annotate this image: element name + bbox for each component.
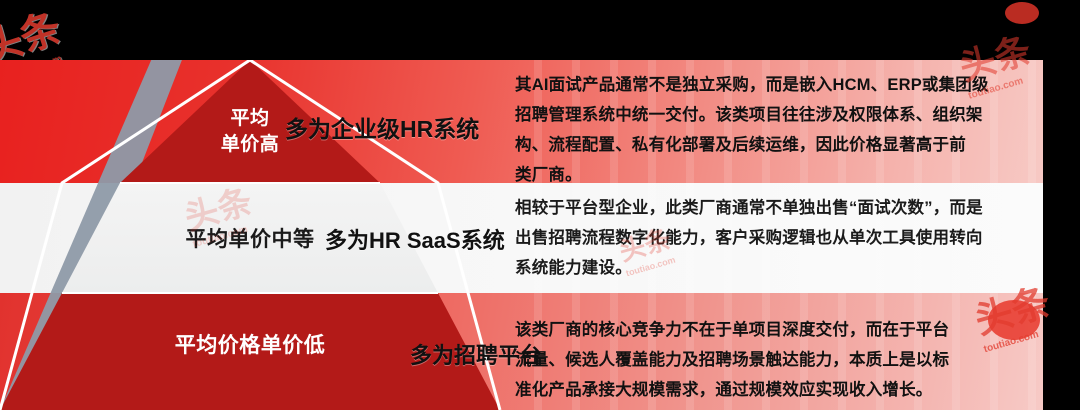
slide-canvas: 头条 toutiao.com 平均 单价高 平均单价中等 平均价格单价低 多为企… bbox=[0, 0, 1080, 410]
tier-2-description: 相较于平台型企业，此类厂商通常不单独出售“面试次数”，而是 出售招聘流程数字化能… bbox=[515, 193, 1043, 283]
tier-2-category-label: 多为HR SaaS系统 bbox=[325, 223, 505, 255]
tier-1-description: 其AI面试产品通常不是独立采购，而是嵌入HCM、ERP或集团级 招聘管理系统中统… bbox=[515, 70, 1043, 190]
watermark-ink-blot-top bbox=[1005, 2, 1039, 24]
pyramid-infographic: 平均 单价高 平均单价中等 平均价格单价低 多为企业级HR系统 多为HR Saa… bbox=[0, 60, 1043, 410]
tier-1-category-label: 多为企业级HR系统 bbox=[285, 110, 479, 144]
tier-3-price-label: 平均价格单价低 bbox=[100, 329, 400, 359]
tier-3-description: 该类厂商的核心竞争力不在于单项目深度交付，而在于平台 流量、候选人覆盖能力及招聘… bbox=[515, 315, 1043, 405]
